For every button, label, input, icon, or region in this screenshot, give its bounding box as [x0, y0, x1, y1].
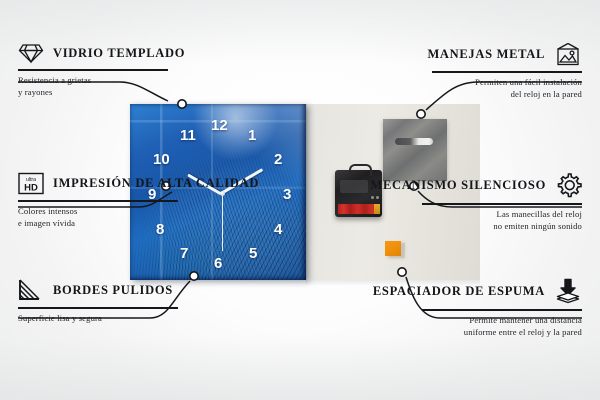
callout-title: ESPACIADOR DE ESPUMA: [373, 284, 545, 299]
callout-bordes-pulidos: BORDES PULIDOS Superficie lisa y segura: [18, 278, 178, 324]
callout-rule: [18, 307, 178, 309]
mechanism-dot: [376, 196, 379, 199]
callout-impresion-alta-calidad: ultra HD IMPRESIÓN DE ALTA CALIDAD Color…: [18, 172, 178, 229]
mechanism-hook: [349, 164, 372, 176]
callout-title: VIDRIO TEMPLADO: [53, 46, 185, 61]
callout-rule: [432, 71, 582, 73]
callout-rule: [422, 309, 582, 311]
callout-rule: [18, 69, 168, 71]
callout-title: MANEJAS METAL: [427, 47, 545, 62]
callout-mecanismo-silencioso: MECANISMO SILENCIOSO Las manecillas del …: [422, 172, 582, 232]
foam-spacer-arrow-icon: [554, 278, 582, 304]
callout-description: Permiten una fácil instalación del reloj…: [432, 76, 582, 100]
aa-battery: [338, 204, 379, 214]
callout-title: IMPRESIÓN DE ALTA CALIDAD: [53, 176, 259, 191]
callout-description: Permite mantener una distancia uniforme …: [422, 314, 582, 338]
callout-description: Las manecillas del reloj no emiten ningú…: [422, 208, 582, 232]
callout-description: Superficie lisa y segura: [18, 312, 178, 324]
callout-rule: [18, 200, 178, 202]
wall-frame-icon: [554, 42, 582, 66]
battery-terminal: [374, 204, 380, 214]
callout-title: BORDES PULIDOS: [53, 283, 173, 298]
infographic-canvas: 12 1 2 3 4 5 6 7 8 9 10 11: [0, 0, 600, 400]
callout-title: MECANISMO SILENCIOSO: [371, 178, 547, 193]
mechanism-detail: [340, 180, 368, 193]
diamond-icon: [18, 42, 44, 64]
callout-rule: [422, 203, 582, 205]
svg-text:HD: HD: [24, 183, 38, 194]
gear-icon: [555, 172, 582, 198]
mechanism-dot: [371, 196, 374, 199]
callout-description: Resistencia a grietas y rayones: [18, 74, 168, 98]
hanger-slot: [395, 138, 433, 145]
callout-description: Colores intensos e imagen vívida: [18, 205, 178, 229]
callout-vidrio-templado: VIDRIO TEMPLADO Resistencia a grietas y …: [18, 42, 168, 98]
foam-spacer-side: [401, 243, 405, 258]
foam-spacer: [385, 241, 401, 256]
callout-manejas-metal: MANEJAS METAL Permiten una fácil instala…: [432, 42, 582, 100]
callout-espaciador-espuma: ESPACIADOR DE ESPUMA Permite mantener un…: [422, 278, 582, 338]
ultra-hd-icon: ultra HD: [18, 172, 44, 195]
polished-edges-icon: [18, 278, 44, 302]
